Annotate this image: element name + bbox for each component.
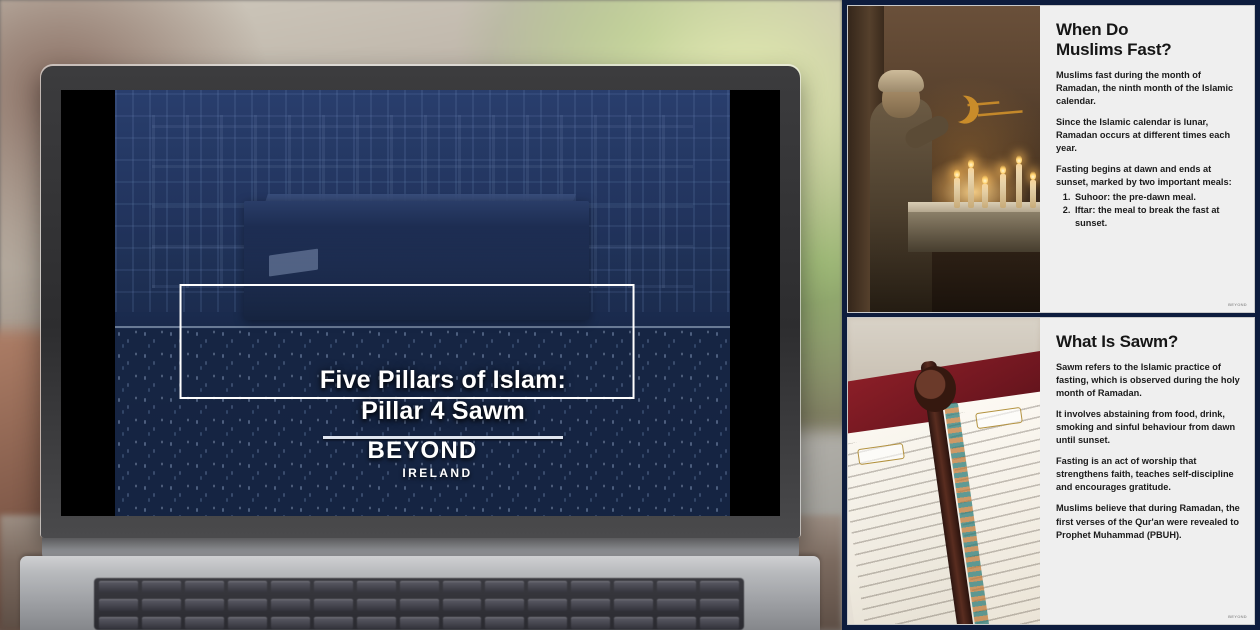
slide-image-quran — [848, 318, 1040, 624]
slide-when-do-muslims-fast[interactable]: When Do Muslims Fast? Muslims fast durin… — [848, 6, 1254, 312]
key[interactable] — [400, 581, 439, 593]
laptop-keyboard[interactable] — [94, 578, 744, 630]
keyboard-row[interactable] — [94, 614, 744, 630]
watermark: BEYOND — [1228, 302, 1247, 307]
candle — [954, 178, 960, 208]
key[interactable] — [271, 599, 310, 611]
key[interactable] — [700, 581, 739, 593]
key[interactable] — [185, 581, 224, 593]
key[interactable] — [614, 617, 653, 629]
laptop-screen[interactable]: Five Pillars of Islam: Pillar 4 Sawm BEY… — [61, 90, 780, 516]
screenshot-root: Five Pillars of Islam: Pillar 4 Sawm BEY… — [0, 0, 1260, 630]
prayer-beads-tassel-icon — [914, 366, 956, 412]
candle — [1030, 180, 1036, 208]
candle-flame-icon — [954, 169, 960, 178]
key[interactable] — [571, 599, 610, 611]
list-item: Iftar: the meal to break the fast at sun… — [1073, 204, 1240, 230]
ramadan-mubarak-wall-art — [967, 93, 1035, 125]
candle-flame-icon — [1030, 171, 1036, 180]
key[interactable] — [271, 581, 310, 593]
laptop-lid: Five Pillars of Islam: Pillar 4 Sawm BEY… — [41, 66, 800, 538]
key[interactable] — [400, 617, 439, 629]
candle-group — [948, 156, 1040, 208]
key[interactable] — [99, 599, 138, 611]
watermark: BEYOND — [1228, 614, 1247, 619]
slide-paragraph: Since the Islamic calendar is lunar, Ram… — [1056, 116, 1240, 155]
slide-paragraph: Sawm refers to the Islamic practice of f… — [1056, 361, 1240, 400]
brand-logo: BEYOND IRELAND — [115, 437, 730, 480]
page-title: Five Pillars of Islam: Pillar 4 Sawm — [320, 365, 566, 426]
key[interactable] — [142, 617, 181, 629]
slide-heading: What Is Sawm? — [1056, 332, 1240, 352]
key[interactable] — [657, 617, 696, 629]
keyboard-row[interactable] — [94, 596, 744, 614]
brand-name: BEYOND — [115, 437, 730, 465]
quran-scene — [848, 318, 1040, 624]
list-item: Suhoor: the pre-dawn meal. — [1073, 191, 1240, 204]
brand-region: IRELAND — [115, 466, 730, 480]
slide-paragraph: Muslims believe that during Ramadan, the… — [1056, 502, 1240, 541]
slide-paragraph: Fasting begins at dawn and ends at sunse… — [1056, 163, 1240, 189]
candle — [1000, 174, 1006, 208]
candle — [1016, 164, 1022, 208]
candle-flame-icon — [1000, 165, 1006, 174]
keyboard-row[interactable] — [94, 578, 744, 596]
key[interactable] — [228, 617, 267, 629]
candle-flame-icon — [968, 159, 974, 168]
key[interactable] — [657, 599, 696, 611]
slide-what-is-sawm[interactable]: What Is Sawm? Sawm refers to the Islamic… — [848, 318, 1254, 624]
key[interactable] — [443, 617, 482, 629]
key[interactable] — [614, 581, 653, 593]
key[interactable] — [314, 599, 353, 611]
key[interactable] — [700, 617, 739, 629]
laptop-hinge — [42, 538, 799, 558]
slide-text-body: What Is Sawm? Sawm refers to the Islamic… — [1040, 318, 1254, 624]
slide-text-body: When Do Muslims Fast? Muslims fast durin… — [1040, 6, 1254, 312]
slide-paragraph: Fasting is an act of worship that streng… — [1056, 455, 1240, 494]
candle-flame-icon — [1016, 155, 1022, 164]
key[interactable] — [700, 599, 739, 611]
key[interactable] — [400, 599, 439, 611]
key[interactable] — [571, 581, 610, 593]
candle — [982, 184, 988, 208]
key[interactable] — [142, 581, 181, 593]
key[interactable] — [357, 581, 396, 593]
key[interactable] — [142, 599, 181, 611]
presentation-slide-main[interactable]: Five Pillars of Islam: Pillar 4 Sawm BEY… — [115, 90, 730, 516]
key[interactable] — [485, 581, 524, 593]
key[interactable] — [185, 617, 224, 629]
slide-paragraph: It involves abstaining from food, drink,… — [1056, 408, 1240, 447]
key[interactable] — [485, 617, 524, 629]
slide-ordered-list: Suhoor: the pre-dawn meal. Iftar: the me… — [1056, 191, 1240, 230]
key[interactable] — [657, 581, 696, 593]
slide-paragraph: Muslims fast during the month of Ramadan… — [1056, 69, 1240, 108]
key[interactable] — [228, 599, 267, 611]
slide-heading: When Do Muslims Fast? — [1056, 20, 1240, 60]
key[interactable] — [228, 581, 267, 593]
candle-flame-icon — [982, 175, 988, 184]
key[interactable] — [314, 581, 353, 593]
slide-panel-column: When Do Muslims Fast? Muslims fast durin… — [842, 0, 1260, 630]
key[interactable] — [528, 617, 567, 629]
candle — [968, 168, 974, 208]
key[interactable] — [528, 581, 567, 593]
tablecloth — [908, 212, 1040, 252]
key[interactable] — [614, 599, 653, 611]
key[interactable] — [443, 599, 482, 611]
slide-image-iftar — [848, 6, 1040, 312]
key[interactable] — [443, 581, 482, 593]
person-turban — [878, 70, 924, 92]
key[interactable] — [357, 617, 396, 629]
key[interactable] — [485, 599, 524, 611]
key[interactable] — [571, 617, 610, 629]
key[interactable] — [99, 617, 138, 629]
key[interactable] — [99, 581, 138, 593]
key[interactable] — [271, 617, 310, 629]
key[interactable] — [357, 599, 396, 611]
key[interactable] — [528, 599, 567, 611]
key[interactable] — [314, 617, 353, 629]
iftar-scene — [848, 6, 1040, 312]
key[interactable] — [185, 599, 224, 611]
laptop-photo: Five Pillars of Islam: Pillar 4 Sawm BEY… — [0, 0, 842, 630]
